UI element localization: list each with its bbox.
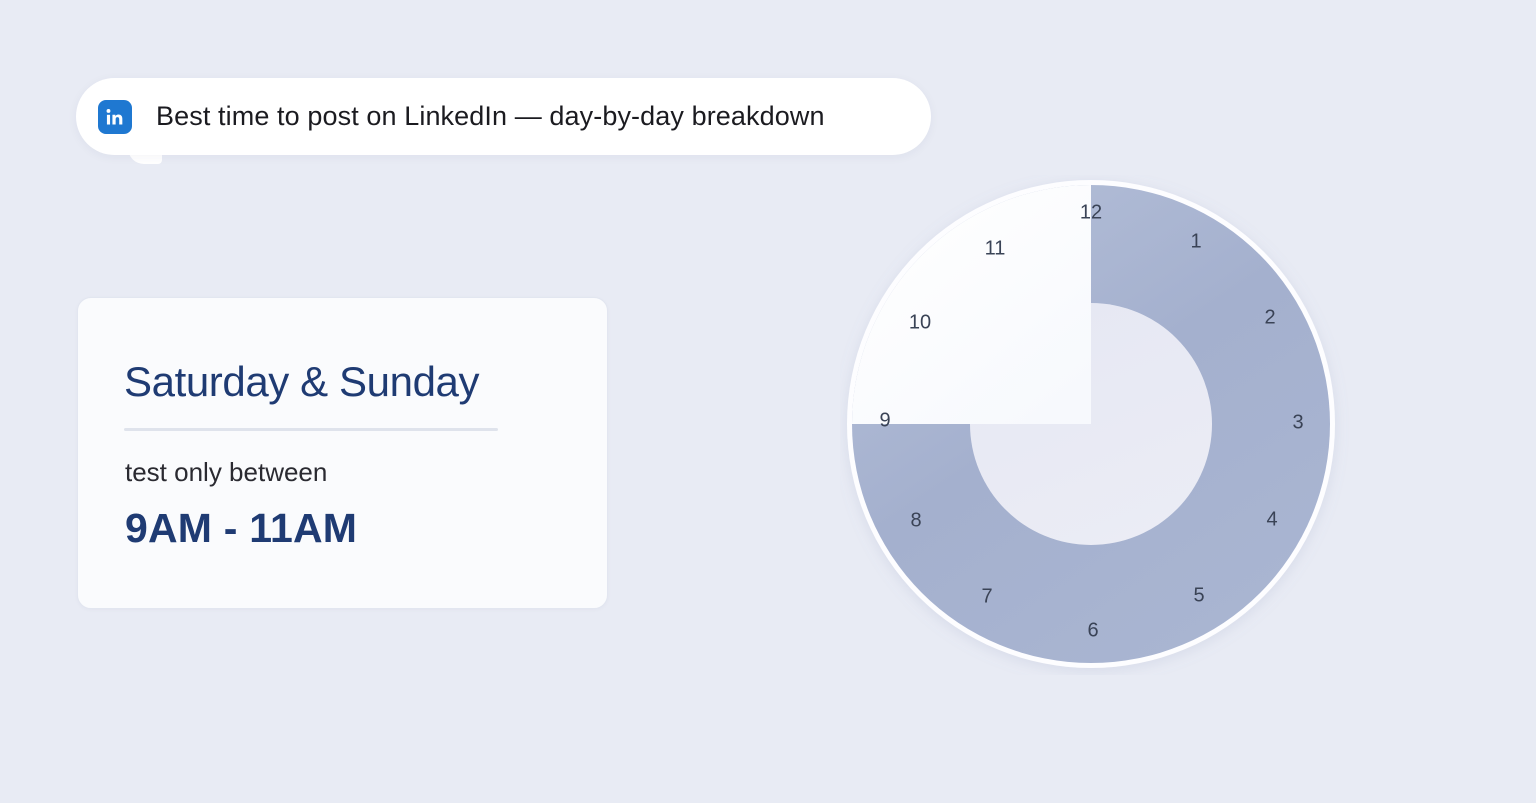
info-card: Saturday & Sunday test only between 9AM … bbox=[77, 297, 608, 609]
clock-chart: 12 1 2 3 4 5 6 7 8 9 10 11 bbox=[840, 175, 1350, 675]
hour-label-5: 5 bbox=[1193, 584, 1204, 606]
hour-label-9: 9 bbox=[879, 409, 890, 431]
hour-label-6: 6 bbox=[1087, 619, 1098, 641]
hour-label-12: 12 bbox=[1080, 201, 1102, 223]
card-time-range: 9AM - 11AM bbox=[125, 505, 357, 552]
hour-label-4: 4 bbox=[1266, 508, 1277, 530]
hour-label-10: 10 bbox=[909, 311, 931, 333]
hour-label-2: 2 bbox=[1264, 306, 1275, 328]
page-title: Best time to post on LinkedIn — day-by-d… bbox=[156, 101, 825, 132]
card-heading: Saturday & Sunday bbox=[124, 358, 479, 406]
clock-chart-svg: 12 1 2 3 4 5 6 7 8 9 10 11 bbox=[840, 175, 1350, 675]
title-banner: Best time to post on LinkedIn — day-by-d… bbox=[76, 78, 931, 155]
card-divider bbox=[124, 428, 498, 431]
hour-label-8: 8 bbox=[910, 509, 921, 531]
hour-label-11: 11 bbox=[985, 237, 1006, 259]
card-subtitle: test only between bbox=[125, 457, 327, 488]
linkedin-icon bbox=[98, 100, 132, 134]
hour-label-1: 1 bbox=[1190, 230, 1201, 252]
highlight-wedge-9-to-12 bbox=[852, 185, 1091, 424]
hour-label-7: 7 bbox=[981, 585, 992, 607]
hour-label-3: 3 bbox=[1292, 411, 1303, 433]
